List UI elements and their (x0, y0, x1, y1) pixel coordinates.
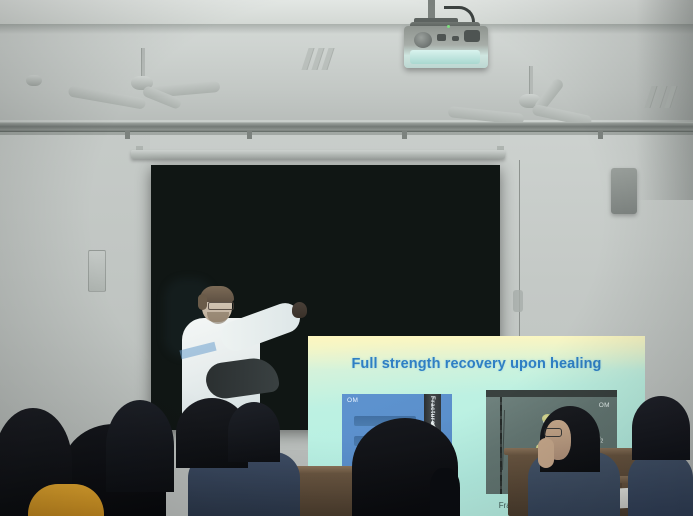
wall-conduit-shadow (0, 131, 693, 135)
pipe-clip (125, 131, 130, 139)
audience-member-body (628, 452, 693, 516)
screen-cord-handle[interactable] (513, 290, 523, 312)
ceiling-beam (0, 0, 693, 26)
ceiling-fan-mount (26, 75, 42, 87)
audience-glasses-icon (544, 428, 562, 437)
audience-member-head (632, 396, 690, 460)
presenter-glasses-icon (208, 302, 234, 310)
projector-vent (464, 30, 480, 42)
presenter-hand (292, 302, 307, 318)
pipe-clip (247, 131, 252, 139)
ceiling-fan (500, 66, 693, 126)
ceiling-shadow (0, 24, 693, 34)
om-label-right: OM (599, 402, 610, 409)
rutile-annotation-subscript: 2 (601, 438, 604, 444)
wall-left-section (0, 120, 150, 450)
presenter-hair-side (198, 294, 207, 310)
projector-lens-icon (414, 32, 432, 48)
pipe-clip (598, 131, 603, 139)
pipe-clip (402, 131, 407, 139)
healed-crack-trace-secondary (502, 410, 505, 470)
micrograph-edge-band (486, 390, 617, 397)
projection-screen-roller (131, 150, 505, 159)
audience-member-head (228, 402, 280, 462)
om-label-left: OM (347, 397, 358, 404)
projector-light-panel (410, 50, 480, 64)
audience-member-hair-strand (430, 468, 460, 516)
ceiling-fan (120, 48, 330, 110)
projector-knob (452, 36, 459, 41)
wall-junction-box (88, 250, 106, 292)
projector-status-led (447, 25, 450, 28)
healed-crack-trace (500, 397, 502, 494)
audience-hand (538, 438, 554, 468)
audience-member-head (106, 400, 174, 492)
projector-knob (437, 34, 446, 41)
wall-speaker (611, 168, 637, 214)
lecture-hall-photo: Full strength recovery upon healing OM F… (0, 0, 693, 516)
slide-title: Full strength recovery upon healing (308, 356, 645, 372)
